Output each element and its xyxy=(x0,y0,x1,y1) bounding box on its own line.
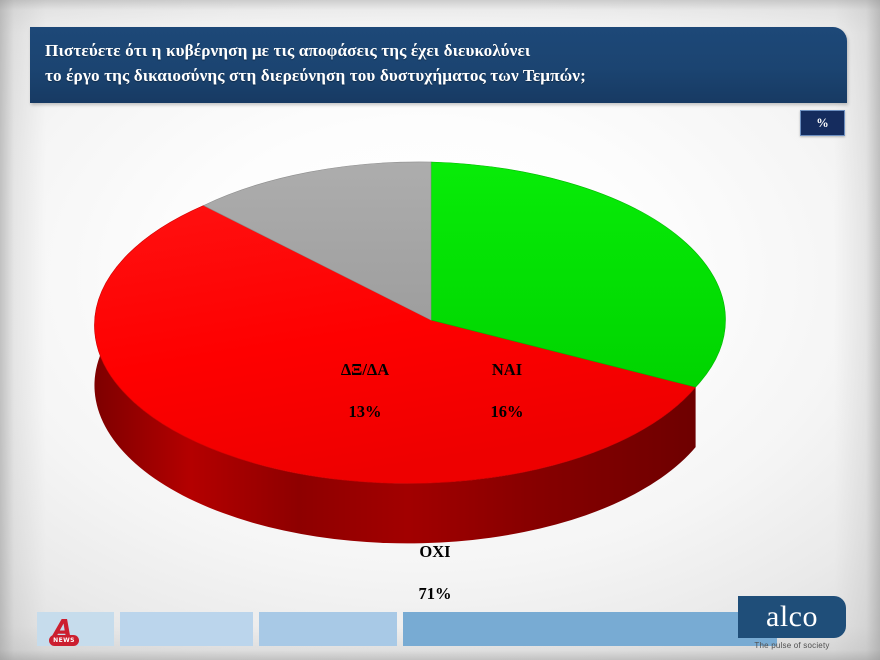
pie-top-faces xyxy=(94,162,725,483)
footer-bar-3 xyxy=(259,612,397,646)
alco-logo-box: alco xyxy=(738,596,846,638)
alco-wordmark: alco xyxy=(766,602,818,632)
footer-bar-2 xyxy=(120,612,253,646)
slide-canvas: Πιστεύετε ότι η κυβέρνηση με τις αποφάσε… xyxy=(0,0,880,660)
percent-unit-badge: % xyxy=(800,110,845,136)
question-header-band: Πιστεύετε ότι η κυβέρνηση με τις αποφάσε… xyxy=(30,27,847,103)
footer: A NEWS alco The pulse of society xyxy=(0,588,880,660)
alco-logo: alco The pulse of society xyxy=(738,596,846,650)
pie-chart: ΝΑΙ 16% ΟΧΙ 71% ΔΞ/ΔΑ 13% xyxy=(0,140,880,570)
footer-bar-4 xyxy=(403,612,777,646)
footer-bar-group xyxy=(37,612,777,646)
percent-unit-label: % xyxy=(816,116,829,131)
pie-chart-svg xyxy=(0,140,880,570)
alpha-news-logo-icon: A NEWS xyxy=(48,616,82,646)
question-title: Πιστεύετε ότι η κυβέρνηση με τις αποφάσε… xyxy=(45,38,837,88)
alpha-news-badge: NEWS xyxy=(49,635,79,646)
alco-tagline: The pulse of society xyxy=(738,641,846,650)
